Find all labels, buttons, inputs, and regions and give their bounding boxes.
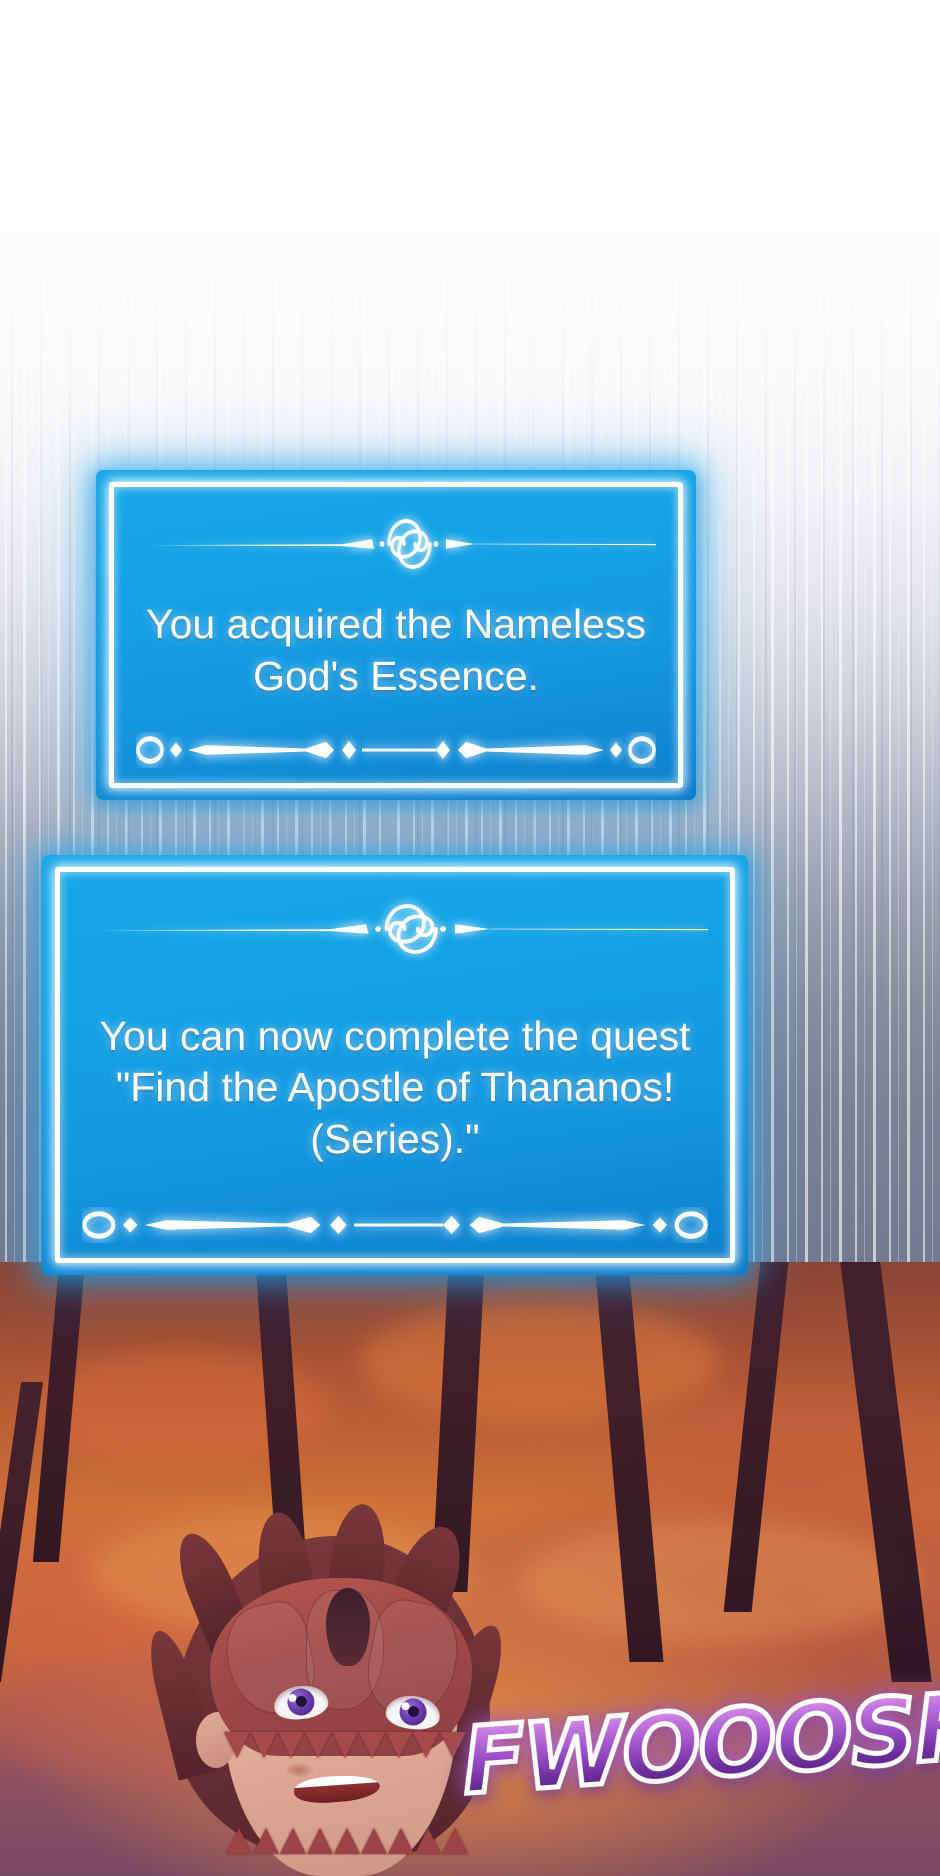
- diamond-line-divider-icon: [136, 732, 656, 768]
- system-message-box-quest: You can now complete the quest "Find the…: [42, 855, 748, 1275]
- mask-jagged-edge-lower: [226, 1828, 468, 1854]
- masked-character: [148, 1536, 518, 1876]
- character-cheek-mark: [284, 1762, 314, 1778]
- message-text: You can now complete the quest "Find the…: [99, 969, 690, 1207]
- diamond-line-divider-icon: [82, 1207, 708, 1243]
- comic-panel: FWOOOSH You acquired the Nameless God's …: [0, 0, 940, 1876]
- message-text: You acquired the Nameless God's Essence.: [146, 570, 646, 732]
- mask-jagged-edge-upper: [224, 1732, 466, 1758]
- system-message-box-acquired: You acquired the Nameless God's Essence.: [96, 470, 696, 800]
- mask-center-notch: [326, 1588, 370, 1666]
- swirl-flourish-divider-icon: [82, 893, 708, 965]
